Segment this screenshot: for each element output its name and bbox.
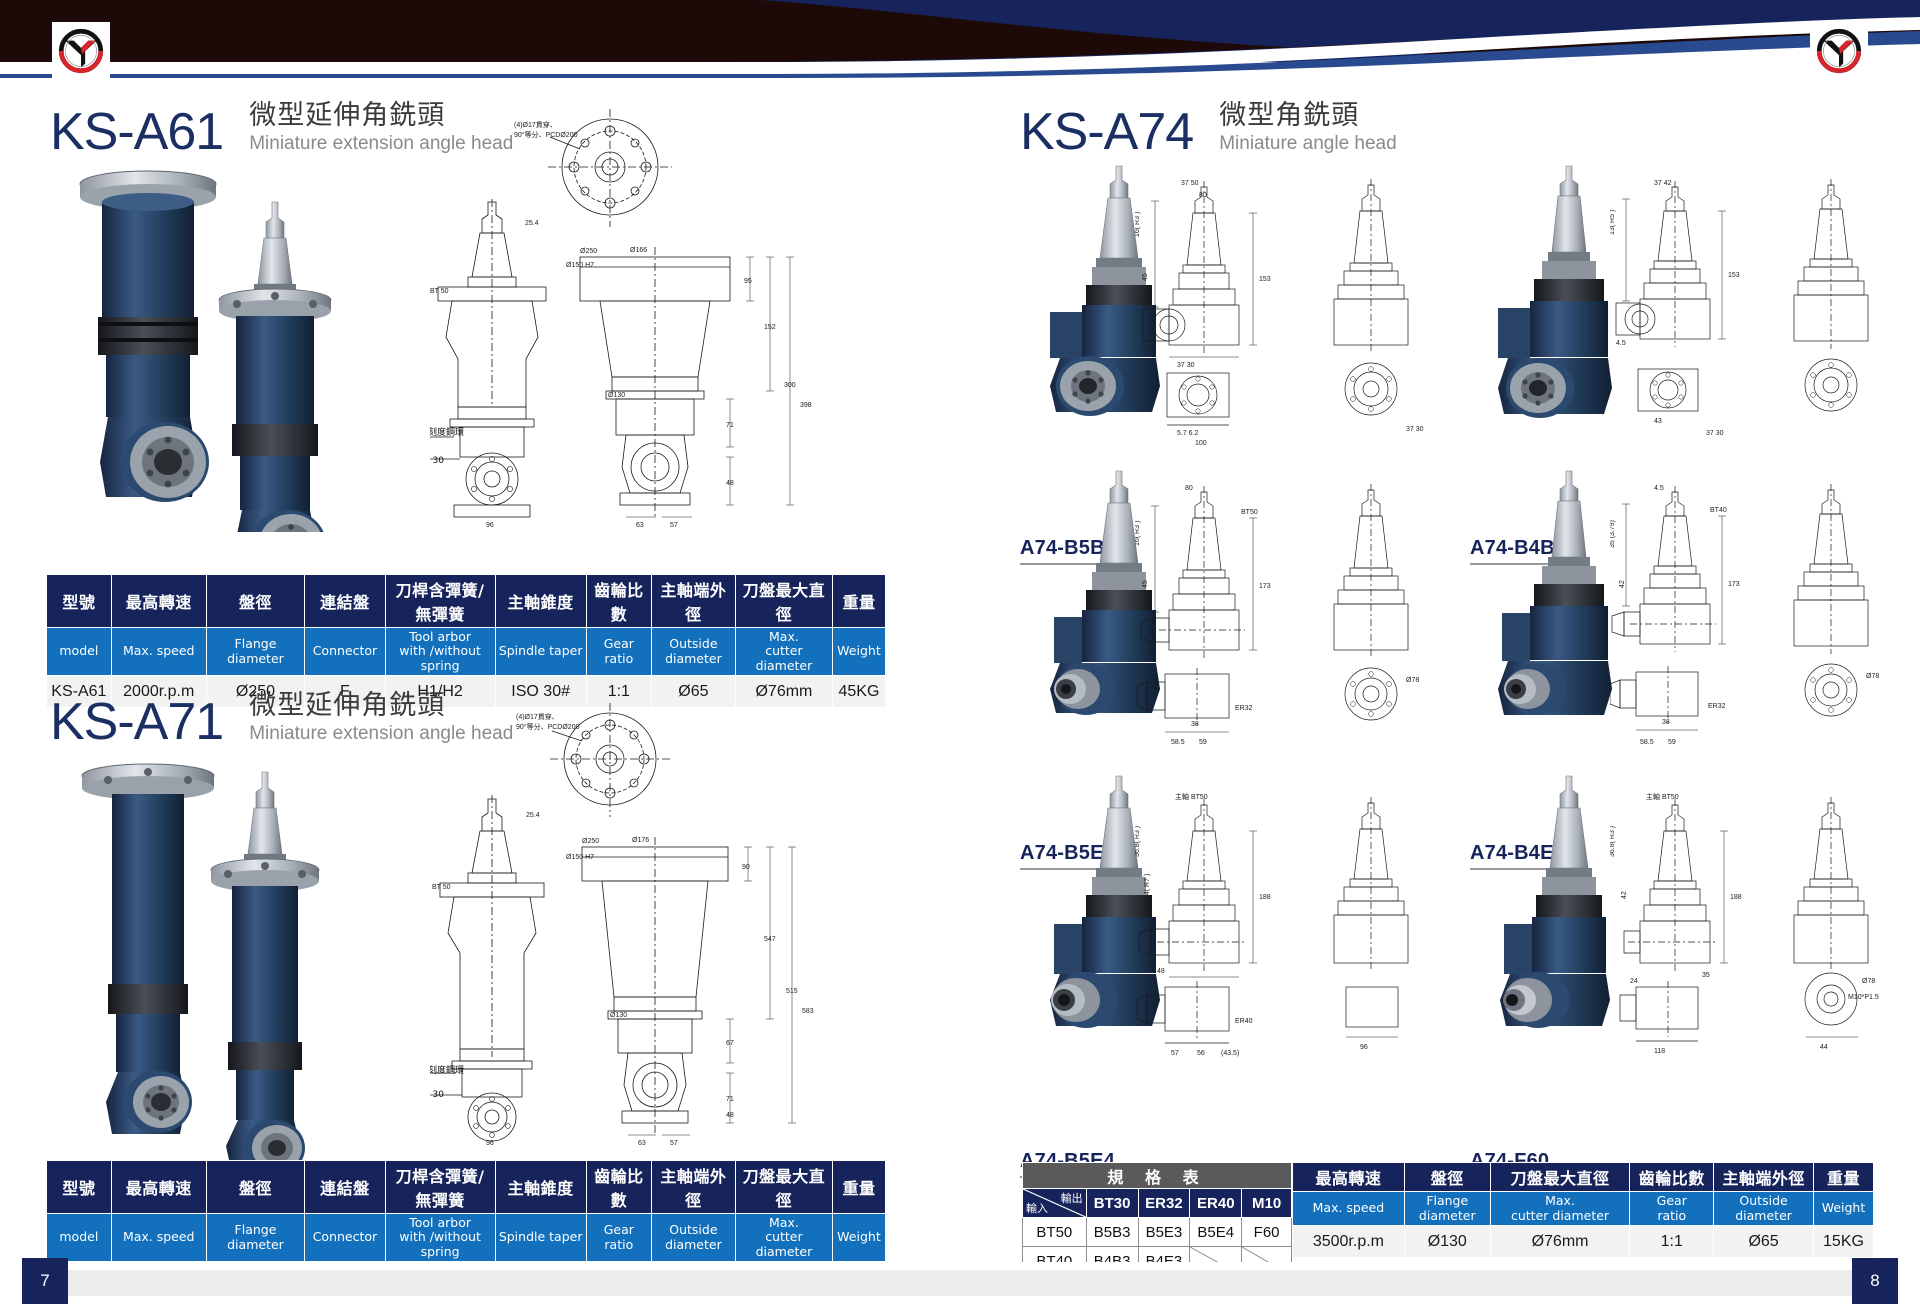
- dim-label-spindle-bt30: 主軸BT 30: [430, 1088, 444, 1100]
- matrix-cell-b5e4: B5E4: [1190, 1218, 1242, 1247]
- th-en-model: model: [47, 628, 112, 676]
- matrix-row-label-bt50: BT50: [1023, 1218, 1087, 1247]
- svg-text:42: 42: [1619, 580, 1626, 588]
- svg-text:45: 45: [1142, 273, 1149, 281]
- catalog-page-spread: KS-A61 微型延伸角銑頭 Miniature extension angle…: [0, 0, 1920, 1311]
- svg-text:38: 38: [1191, 721, 1199, 728]
- svg-text:BT50: BT50: [1241, 509, 1258, 516]
- svg-text:5.7 6.2: 5.7 6.2: [1177, 430, 1199, 437]
- th-en-connector: Connector: [305, 628, 385, 676]
- dim-label-m10: M10*P1.5: [1848, 994, 1879, 1001]
- svg-text:63: 63: [638, 1140, 646, 1147]
- technical-drawing-a74-b4e3-side: Ø78: [1770, 482, 1900, 752]
- page-number-right: 8: [1852, 1258, 1898, 1304]
- svg-text:Ø250: Ø250: [580, 248, 597, 255]
- spec-header-row-en: Max. speed Flange diameter Max. cutter d…: [1293, 1192, 1874, 1226]
- th-cn-max-cutter: 刀盤最大直徑: [735, 575, 832, 628]
- company-logo-icon: [55, 25, 107, 77]
- svg-text:13( R5 ): 13( R5 ): [1610, 210, 1616, 235]
- dim-note-hole-2: 90°等分、PCDØ200: [514, 130, 578, 139]
- svg-text:(43.5): (43.5): [1221, 1050, 1239, 1057]
- th-en-outside-dia: Outside diameter: [651, 628, 735, 676]
- spec-header-row-en: model Max. speed Flange diameter Connect…: [47, 1214, 886, 1262]
- spec-header-row-cn: 最高轉速 盤徑 刀盤最大直徑 齒輪比數 主軸端外徑 重量: [1293, 1163, 1874, 1192]
- svg-text:96: 96: [1360, 1044, 1368, 1051]
- svg-text:24: 24: [1630, 978, 1638, 985]
- th-en-connector: Connector: [305, 1214, 385, 1262]
- technical-drawing-a74-b4b3: 37 42 13( R5 ) 153 4.5 43 37 30: [1610, 177, 1760, 447]
- matrix-col-bt30: BT30: [1086, 1189, 1138, 1218]
- banner-swoosh-graphic: [0, 0, 1920, 82]
- td-max-cutter: Ø76mm: [1490, 1226, 1630, 1258]
- th-cn-gear-ratio: 齒輪比數: [586, 1161, 651, 1214]
- svg-text:Ø130: Ø130: [610, 1012, 627, 1019]
- svg-text:4.5: 4.5: [1654, 485, 1664, 492]
- svg-text:35: 35: [1702, 972, 1710, 979]
- td-gear-ratio: 1:1: [1630, 1226, 1714, 1258]
- technical-drawing-a74-b5b3: 37 5080 16( R3 ) 45 4.5 153 37 30 6.5 5.…: [1135, 177, 1295, 447]
- svg-text:300: 300: [784, 382, 796, 389]
- matrix-title-row: 規 格 表: [1023, 1163, 1292, 1189]
- svg-text:Ø150 H7: Ø150 H7: [566, 854, 594, 861]
- svg-text:Ø250: Ø250: [582, 838, 599, 845]
- th-en-flange-dia: Flange diameter: [206, 628, 304, 676]
- company-logo-left: [52, 22, 110, 80]
- svg-text:59: 59: [1668, 739, 1676, 746]
- svg-text:57: 57: [670, 522, 678, 529]
- th-cn-tool-arbor: 刀桿含彈簧/無彈簧: [385, 575, 495, 628]
- svg-text:42: 42: [1621, 891, 1628, 899]
- svg-text:173: 173: [1728, 581, 1740, 588]
- svg-text:Ø78: Ø78: [1406, 677, 1419, 684]
- th-en-tool-arbor: Tool arbor with /without spring: [385, 628, 495, 676]
- svg-text:59: 59: [1199, 739, 1207, 746]
- svg-text:57: 57: [1171, 1050, 1179, 1057]
- product-photo-ks-a61-front: [40, 162, 370, 532]
- matrix-header-row: 輸出 輸入 BT30 ER32 ER40 M10: [1023, 1189, 1292, 1218]
- svg-text:37 42: 37 42: [1654, 180, 1672, 187]
- spec-header-row-cn: 型號 最高轉速 盤徑 連結盤 刀桿含彈簧/無彈簧 主軸錐度 齒輪比數 主軸端外徑…: [47, 575, 886, 628]
- th-en-max-speed: Max. speed: [111, 628, 206, 676]
- svg-text:25.4: 25.4: [526, 812, 540, 819]
- matrix-corner-output-label: 輸出: [1061, 1190, 1083, 1206]
- footer-gray-bar: [66, 1270, 1854, 1296]
- th-cn-max-speed: 最高轉速: [111, 1161, 206, 1214]
- svg-text:16( R3 ): 16( R3 ): [1135, 212, 1141, 237]
- section-heading-ks-a74: KS-A74 微型角銑頭 Miniature angle head: [1020, 100, 1397, 158]
- svg-text:45: 45: [1142, 580, 1149, 588]
- svg-text:37 30: 37 30: [1406, 426, 1424, 433]
- svg-text:ER32: ER32: [1708, 703, 1726, 710]
- th-cn-model: 型號: [47, 1161, 112, 1214]
- td-weight: 15KG: [1813, 1226, 1873, 1258]
- svg-text:57: 57: [670, 1140, 678, 1147]
- product-photo-ks-a71-front: [40, 762, 370, 1162]
- dim-note-hole-1: (4)Ø17貫穿、: [514, 120, 557, 129]
- td-outside-dia: Ø65: [1714, 1226, 1814, 1258]
- svg-text:515: 515: [786, 988, 798, 995]
- dim-label-spindle-bt30: 主軸BT 30: [430, 454, 444, 466]
- technical-drawing-a74-b4b3-side: [1770, 177, 1900, 447]
- matrix-title: 規 格 表: [1023, 1163, 1292, 1189]
- matrix-cell-b5e3: B5E3: [1138, 1218, 1190, 1247]
- th-cn-connector: 連結盤: [305, 1161, 385, 1214]
- svg-text:118: 118: [1654, 1048, 1665, 1055]
- technical-drawing-a74-b5e4: 主軸 BT50 36.8( R3 ) 54( R7 ) 188 48 ER40 …: [1135, 787, 1295, 1057]
- th-en-outside-dia: Outside diameter: [651, 1214, 735, 1262]
- svg-text:48: 48: [1157, 968, 1165, 975]
- svg-text:58.5: 58.5: [1640, 739, 1654, 746]
- matrix-corner-cell: 輸出 輸入: [1023, 1189, 1087, 1218]
- th-en-model: model: [47, 1214, 112, 1262]
- page-number-left: 7: [22, 1258, 68, 1304]
- technical-drawing-a74-b5e4-side: 96: [1310, 787, 1440, 1057]
- svg-text:4.5: 4.5: [1142, 297, 1149, 307]
- th-cn-connector: 連結盤: [305, 575, 385, 628]
- svg-text:398: 398: [800, 402, 812, 409]
- th-cn-weight: 重量: [832, 575, 885, 628]
- th-en-gear-ratio: Gear ratio: [586, 628, 651, 676]
- dim-note-hole-1: (4)Ø17貫穿、: [516, 712, 559, 721]
- svg-text:153: 153: [1728, 272, 1740, 279]
- svg-text:Ø176: Ø176: [632, 837, 649, 844]
- th-en-max-cutter: Max. cutter diameter: [1490, 1192, 1630, 1226]
- spec-header-row-en: model Max. speed Flange diameter Connect…: [47, 628, 886, 676]
- top-banner: [0, 0, 1920, 82]
- dim-note-hole-2: 90°等分、PCDØ200: [516, 722, 580, 731]
- svg-text:Ø166: Ø166: [630, 247, 647, 254]
- matrix-cell-f60: F60: [1242, 1218, 1292, 1247]
- svg-text:48: 48: [726, 480, 734, 487]
- model-name-en-ks-a74: Miniature angle head: [1219, 132, 1396, 156]
- svg-text:80: 80: [1199, 192, 1207, 199]
- svg-text:BT40: BT40: [1710, 507, 1727, 514]
- company-logo-right: [1810, 22, 1868, 80]
- svg-text:71: 71: [726, 422, 734, 429]
- svg-text:16( R3 ): 16( R3 ): [1135, 521, 1141, 546]
- svg-text:37 30: 37 30: [1706, 430, 1724, 437]
- technical-drawing-a74-f60-side: Ø78 M10*P1.5 44: [1770, 787, 1900, 1057]
- matrix-col-m10: M10: [1242, 1189, 1292, 1218]
- svg-text:152: 152: [764, 324, 776, 331]
- svg-text:173: 173: [1259, 583, 1271, 590]
- th-cn-max-speed: 最高轉速: [111, 575, 206, 628]
- svg-text:153: 153: [1259, 276, 1271, 283]
- th-en-gear-ratio: Gear ratio: [1630, 1192, 1714, 1226]
- th-cn-outside-dia: 主軸端外徑: [651, 1161, 735, 1214]
- matrix-row-bt50: BT50 B5B3 B5E3 B5E4 F60: [1023, 1218, 1292, 1247]
- th-cn-model: 型號: [47, 575, 112, 628]
- matrix-col-er32: ER32: [1138, 1189, 1190, 1218]
- svg-text:25.4: 25.4: [525, 220, 539, 227]
- svg-text:44: 44: [1820, 1044, 1828, 1051]
- svg-text:37 50: 37 50: [1181, 180, 1199, 187]
- svg-text:96: 96: [486, 1140, 494, 1147]
- model-code-ks-a74: KS-A74: [1020, 106, 1193, 158]
- td-max-speed: 3500r.p.m: [1293, 1226, 1405, 1258]
- th-en-max-cutter: Max. cutter diameter: [735, 628, 832, 676]
- th-en-gear-ratio: Gear ratio: [586, 1214, 651, 1262]
- technical-drawing-a74-b5e3-side: Ø78: [1310, 482, 1440, 752]
- svg-text:188: 188: [1730, 894, 1742, 901]
- th-cn-spindle-taper: 主軸錐度: [495, 1161, 586, 1214]
- th-en-spindle-taper: Spindle taper: [495, 628, 586, 676]
- technical-drawing-a74-b5b3-side: 37 30: [1310, 177, 1440, 447]
- svg-text:188: 188: [1259, 894, 1271, 901]
- matrix-corner-input-label: 輸入: [1026, 1200, 1048, 1216]
- svg-text:56: 56: [1197, 1050, 1205, 1057]
- svg-text:37 30: 37 30: [1177, 362, 1195, 369]
- company-logo-icon: [1813, 25, 1865, 77]
- svg-text:100: 100: [1195, 440, 1207, 447]
- svg-text:Ø150 H7: Ø150 H7: [566, 262, 594, 269]
- svg-text:Ø78: Ø78: [1866, 673, 1879, 680]
- svg-text:48: 48: [726, 1112, 734, 1119]
- svg-text:主軸 BT50: 主軸 BT50: [1175, 792, 1208, 801]
- svg-text:4.5: 4.5: [1616, 340, 1626, 347]
- th-en-max-speed: Max. speed: [1293, 1192, 1405, 1226]
- svg-text:36.8( R3 ): 36.8( R3 ): [1610, 826, 1616, 857]
- spec-table-ks-a74: 最高轉速 盤徑 刀盤最大直徑 齒輪比數 主軸端外徑 重量 Max. speed …: [1292, 1162, 1874, 1258]
- th-cn-outside-dia: 主軸端外徑: [1714, 1163, 1814, 1192]
- svg-text:547: 547: [764, 936, 776, 943]
- th-en-outside-dia: Outside diameter: [1714, 1192, 1814, 1226]
- svg-text:38: 38: [1662, 719, 1670, 726]
- th-en-flange-dia: Flange diameter: [206, 1214, 304, 1262]
- th-cn-max-cutter: 刀盤最大直徑: [1490, 1163, 1630, 1192]
- svg-text:63: 63: [636, 522, 644, 529]
- svg-text:80: 80: [1185, 485, 1193, 492]
- model-name-cn-ks-a74: 微型角銑頭: [1219, 100, 1396, 131]
- matrix-table-a74: 規 格 表 輸出 輸入 BT30 ER32 ER40 M10: [1022, 1162, 1292, 1276]
- dim-label-dial-ring: 刻度鋼環: [430, 1064, 464, 1076]
- svg-text:54( R7 ): 54( R7 ): [1144, 874, 1151, 899]
- svg-text:67: 67: [726, 1040, 734, 1047]
- spec-header-row-cn: 型號 最高轉速 盤徑 連結盤 刀桿含彈簧/無彈簧 主軸錐度 齒輪比數 主軸端外徑…: [47, 1161, 886, 1214]
- td-flange-dia: Ø130: [1404, 1226, 1490, 1258]
- svg-text:6.5: 6.5: [1143, 344, 1153, 351]
- th-en-flange-dia: Flange diameter: [1404, 1192, 1490, 1226]
- technical-drawing-ks-a71: (4)Ø17貫穿、 90°等分、PCDØ200 25.4 Ø250 Ø150 H…: [430, 697, 930, 1157]
- page-gutter-divider: [959, 82, 961, 1262]
- matrix-cell-b5b3: B5B3: [1086, 1218, 1138, 1247]
- page-spread-body: KS-A61 微型延伸角銑頭 Miniature extension angle…: [0, 82, 1920, 1262]
- th-cn-gear-ratio: 齒輪比數: [1630, 1163, 1714, 1192]
- svg-text:35 (3.79): 35 (3.79): [1610, 520, 1616, 548]
- model-code-ks-a61: KS-A61: [50, 106, 223, 158]
- dim-label-bt50: BT 50: [432, 884, 451, 891]
- th-en-tool-arbor: Tool arbor with /without spring: [385, 1214, 495, 1262]
- th-en-weight: Weight: [832, 628, 885, 676]
- th-cn-max-speed: 最高轉速: [1293, 1163, 1405, 1192]
- th-cn-max-cutter: 刀盤最大直徑: [735, 1161, 832, 1214]
- th-cn-tool-arbor: 刀桿含彈簧/無彈簧: [385, 1161, 495, 1214]
- svg-text:主軸 BT50: 主軸 BT50: [1646, 792, 1679, 801]
- th-cn-flange-dia: 盤徑: [206, 1161, 304, 1214]
- th-en-spindle-taper: Spindle taper: [495, 1214, 586, 1262]
- technical-drawing-a74-b5e3: 80 16( R3 ) 45 BT50 173 ER32 38 58.559: [1135, 482, 1295, 752]
- svg-text:71: 71: [726, 1096, 734, 1103]
- spec-value-row-ks-a74: 3500r.p.m Ø130 Ø76mm 1:1 Ø65 15KG: [1293, 1226, 1874, 1258]
- svg-text:96: 96: [486, 522, 494, 529]
- svg-text:ER40: ER40: [1235, 1018, 1253, 1025]
- th-en-weight: Weight: [832, 1214, 885, 1262]
- th-cn-weight: 重量: [832, 1161, 885, 1214]
- svg-text:583: 583: [802, 1008, 814, 1015]
- th-en-max-cutter: Max. cutter diameter: [735, 1214, 832, 1262]
- technical-drawing-a74-f60: 主軸 BT50 36.8( R3 ) 42 188 24 35 118: [1610, 787, 1760, 1057]
- svg-text:ER32: ER32: [1235, 705, 1253, 712]
- svg-text:95: 95: [744, 278, 752, 285]
- th-cn-spindle-taper: 主軸錐度: [495, 575, 586, 628]
- spec-table-ks-a61: 型號 最高轉速 盤徑 連結盤 刀桿含彈簧/無彈簧 主軸錐度 齒輪比數 主軸端外徑…: [46, 574, 886, 708]
- th-en-max-speed: Max. speed: [111, 1214, 206, 1262]
- th-cn-weight: 重量: [1813, 1163, 1873, 1192]
- svg-text:90: 90: [742, 864, 750, 871]
- th-cn-gear-ratio: 齒輪比數: [586, 575, 651, 628]
- th-cn-outside-dia: 主軸端外徑: [651, 575, 735, 628]
- technical-drawing-a74-b4e3: 4.5 35 (3.79) 42 BT40 173 ER32 38 58.559: [1610, 482, 1760, 752]
- svg-text:58.5: 58.5: [1171, 739, 1185, 746]
- svg-text:43: 43: [1654, 418, 1662, 425]
- th-cn-flange-dia: 盤徑: [1404, 1163, 1490, 1192]
- technical-drawing-ks-a61: (4)Ø17貫穿、 90°等分、PCDØ200 25.4 Ø250 Ø150 H…: [430, 107, 930, 567]
- svg-text:Ø78: Ø78: [1862, 978, 1875, 985]
- svg-text:Ø130: Ø130: [608, 392, 625, 399]
- matrix-col-er40: ER40: [1190, 1189, 1242, 1218]
- dim-label-bt50: BT 50: [430, 288, 449, 295]
- model-code-ks-a71: KS-A71: [50, 696, 223, 748]
- th-cn-flange-dia: 盤徑: [206, 575, 304, 628]
- th-en-weight: Weight: [1813, 1192, 1873, 1226]
- dim-label-dial-ring: 刻度鋼環: [430, 426, 464, 438]
- svg-text:36.8( R3 ): 36.8( R3 ): [1135, 826, 1141, 857]
